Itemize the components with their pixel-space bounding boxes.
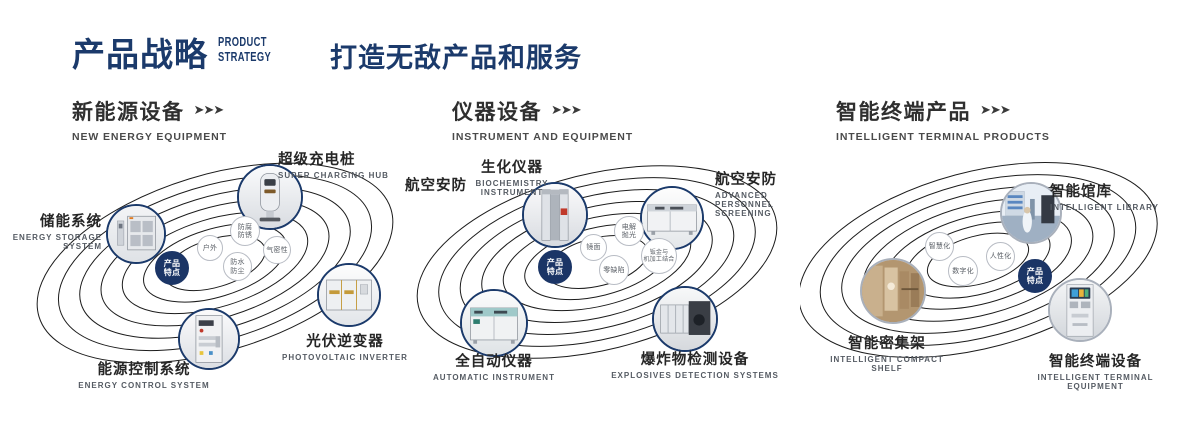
label-aviation-security-left: 航空安防 [405, 174, 467, 195]
diagram-new-energy: 产品特点 户外 防腐防锈 防水防尘 气密性 储能系统 ENERGY STORAG… [30, 150, 430, 395]
label-cn: 能源控制系统 [54, 358, 234, 379]
section-title-en: INTELLIGENT TERMINAL PRODUCTS [836, 131, 1050, 143]
feature-label: 零缺陷 [603, 266, 625, 275]
feature-bubble-anticorrosion[interactable]: 防腐防锈 [230, 216, 260, 246]
label-en: SUPER CHARGING HUB [278, 171, 389, 180]
label-intelligent-terminal-equipment: 智能终端设备 INTELLIGENT TERMINAL EQUIPMENT [1008, 350, 1183, 391]
feature-label: 智慧化 [929, 242, 951, 251]
label-cn: 智能馆库 [1050, 180, 1159, 201]
page-title-english-line1: PRODUCT [218, 34, 271, 49]
diagram-intelligent-terminal: 智慧化 数字化 人性化 产品特点 智能馆库 INTELLIGENT LIBRAR… [800, 150, 1200, 395]
label-cn: 生化仪器 [462, 156, 562, 177]
feature-label: 户外 [203, 244, 217, 253]
feature-label: 防腐防锈 [238, 223, 252, 240]
label-cn: 智能终端设备 [1008, 350, 1183, 371]
label-en: INTELLIGENT LIBRARY [1050, 203, 1159, 212]
feature-core-label: 产品特点 [1027, 267, 1043, 286]
energy-storage-system-photo [108, 206, 164, 262]
feature-core-instrument[interactable]: 产品特点 [538, 250, 572, 284]
feature-bubble-waterproof[interactable]: 防水防尘 [223, 252, 252, 281]
label-cn: 储能系统 [0, 210, 102, 231]
node-intelligent-terminal-equipment[interactable] [1048, 278, 1112, 342]
feature-label: 电解抛光 [622, 223, 636, 240]
label-en: PHOTOVOLTAIC INVERTER [271, 353, 419, 362]
label-cn: 超级充电桩 [278, 148, 389, 169]
automatic-instrument-photo [462, 291, 526, 355]
label-en: INTELLIGENT TERMINAL EQUIPMENT [1008, 373, 1183, 391]
diagram-instrument: 产品特点 镜面 电解抛光 钣金与机加工结合 零缺陷 航空安防 生化仪器 BIOC… [412, 150, 812, 395]
label-cn: 光伏逆变器 [271, 330, 419, 351]
label-en: ENERGY CONTROL SYSTEM [54, 381, 234, 390]
label-cn: 航空安防 [405, 174, 467, 195]
feature-bubble-humanized[interactable]: 人性化 [986, 242, 1015, 271]
label-advanced-personnel-screening: 航空安防 ADVANCED PERSONNELSCREENING [715, 168, 812, 218]
label-en: EXPLOSIVES DETECTION SYSTEMS [610, 371, 780, 380]
node-energy-storage-system[interactable] [106, 204, 166, 264]
feature-label: 防水防尘 [230, 258, 244, 275]
feature-label: 钣金与机加工结合 [643, 249, 674, 264]
label-automatic-instrument: 全自动仪器 AUTOMATIC INSTRUMENT [424, 350, 564, 382]
section-heading-instrument: 仪器设备➤➤➤ INSTRUMENT AND EQUIPMENT [452, 96, 633, 143]
explosives-detection-systems-photo [654, 288, 716, 350]
label-cn: 航空安防 [715, 168, 812, 189]
page-header: 产品战略 PRODUCT STRATEGY 打造无敌产品和服务 [0, 0, 1200, 90]
intelligent-terminal-equipment-photo [1050, 280, 1110, 340]
label-super-charging-hub: 超级充电桩 SUPER CHARGING HUB [278, 148, 389, 180]
intelligent-compact-shelf-photo [862, 260, 924, 322]
page-title: 产品战略 [72, 28, 208, 76]
feature-core-intelligent-terminal[interactable]: 产品特点 [1018, 259, 1052, 293]
label-energy-storage-system: 储能系统 ENERGY STORAGESYSTEM [0, 210, 102, 251]
label-explosives-detection-systems: 爆炸物检测设备 EXPLOSIVES DETECTION SYSTEMS [610, 348, 780, 380]
label-en: ADVANCED PERSONNELSCREENING [715, 191, 812, 218]
node-intelligent-compact-shelf[interactable] [860, 258, 926, 324]
feature-bubble-smart[interactable]: 智慧化 [925, 232, 954, 261]
label-biochemistry-instrument: 生化仪器 BIOCHEMISTRYINSTRUMENT [462, 156, 562, 197]
label-photovoltaic-inverter: 光伏逆变器 PHOTOVOLTAIC INVERTER [271, 330, 419, 362]
section-title-cn: 智能终端产品 [836, 96, 971, 126]
label-en: ENERGY STORAGESYSTEM [0, 233, 102, 251]
feature-bubble-digital[interactable]: 数字化 [948, 256, 978, 286]
node-explosives-detection-systems[interactable] [652, 286, 718, 352]
page-subtitle: 打造无敌产品和服务 [330, 36, 582, 75]
feature-label: 人性化 [990, 252, 1012, 261]
photovoltaic-inverter-photo [319, 265, 379, 325]
page-title-english: PRODUCT STRATEGY [218, 34, 271, 64]
label-en: BIOCHEMISTRYINSTRUMENT [462, 179, 562, 197]
section-heading-intelligent-terminal: 智能终端产品➤➤➤ INTELLIGENT TERMINAL PRODUCTS [836, 96, 1050, 143]
label-cn: 爆炸物检测设备 [610, 348, 780, 369]
chevron-right-icon: ➤➤➤ [980, 102, 1010, 118]
label-cn: 智能密集架 [822, 332, 952, 353]
section-title-cn: 新能源设备 [72, 96, 185, 126]
feature-label: 气密性 [266, 246, 288, 255]
node-photovoltaic-inverter[interactable] [317, 263, 381, 327]
label-intelligent-compact-shelf: 智能密集架 INTELLIGENT COMPACTSHELF [822, 332, 952, 373]
page-title-english-line2: STRATEGY [218, 49, 271, 64]
feature-label: 镜面 [586, 243, 600, 252]
feature-bubble-electropolishing[interactable]: 电解抛光 [614, 216, 644, 246]
section-title-en: NEW ENERGY EQUIPMENT [72, 131, 227, 143]
node-automatic-instrument[interactable] [460, 289, 528, 357]
label-intelligent-library: 智能馆库 INTELLIGENT LIBRARY [1050, 180, 1159, 212]
label-cn: 全自动仪器 [424, 350, 564, 371]
feature-label: 数字化 [952, 267, 974, 276]
feature-bubble-airtight[interactable]: 气密性 [263, 236, 291, 264]
section-heading-new-energy: 新能源设备➤➤➤ NEW ENERGY EQUIPMENT [72, 96, 227, 143]
label-energy-control-system: 能源控制系统 ENERGY CONTROL SYSTEM [54, 358, 234, 390]
section-title-cn: 仪器设备 [452, 96, 542, 126]
feature-bubble-outdoor[interactable]: 户外 [197, 235, 223, 261]
feature-core-label: 产品特点 [164, 259, 180, 278]
label-en: INTELLIGENT COMPACTSHELF [822, 355, 952, 373]
feature-core-label: 产品特点 [547, 258, 563, 277]
chevron-right-icon: ➤➤➤ [194, 102, 224, 118]
feature-bubble-mirror[interactable]: 镜面 [580, 234, 607, 261]
feature-core-new-energy[interactable]: 产品特点 [155, 251, 189, 285]
chevron-right-icon: ➤➤➤ [551, 102, 581, 118]
label-en: AUTOMATIC INSTRUMENT [424, 373, 564, 382]
feature-bubble-zero-defect[interactable]: 零缺陷 [599, 255, 629, 285]
section-title-en: INSTRUMENT AND EQUIPMENT [452, 131, 633, 143]
feature-bubble-sheetmetal-machining[interactable]: 钣金与机加工结合 [641, 238, 677, 274]
